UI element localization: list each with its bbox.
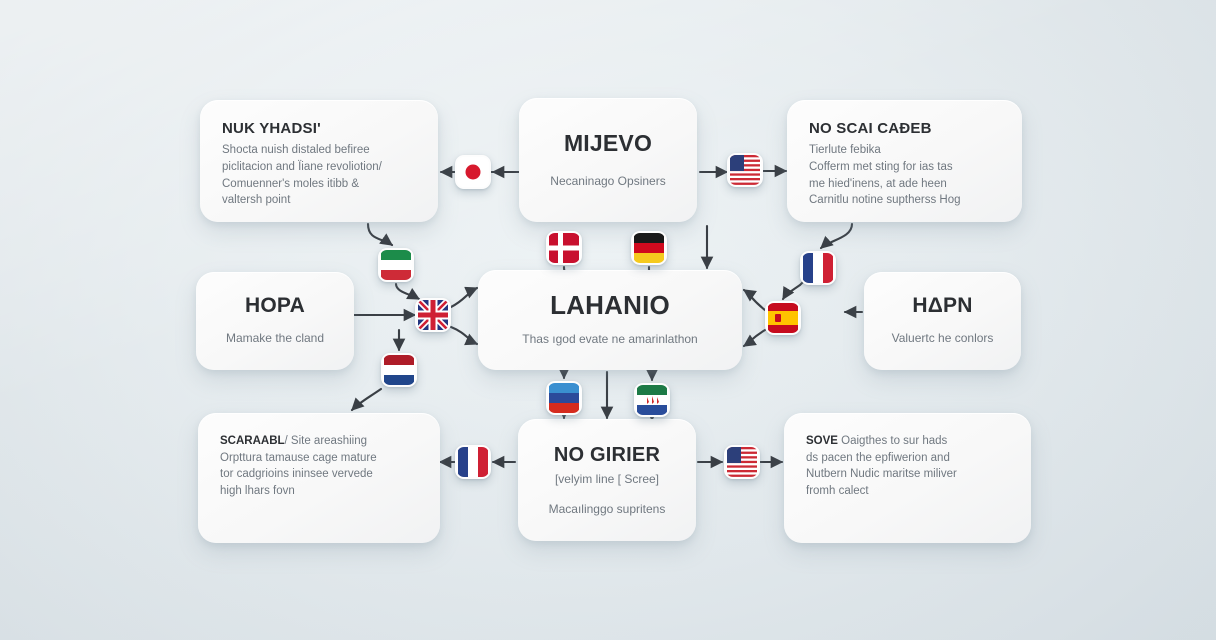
card-nuk-line-3: Comuenner's moles itibb & — [222, 176, 416, 193]
card-noscai-line-4: Carnitlu notine suptherss Hog — [809, 192, 1000, 209]
card-lahanio-subtitle: Thas ıgod evate ne amarinlathon — [522, 331, 697, 348]
card-lahanio[interactable]: LAHANIO Thas ıgod evate ne amarinlathon — [478, 270, 742, 370]
card-noscai-line-1: Tierlute febika — [809, 142, 1000, 159]
card-scaraabl-line-3: tor cadgrioins ininsee vervede — [220, 466, 418, 483]
card-sove-line-4: fromh calect — [806, 483, 1009, 500]
edge-uk-to-lahanio-upper — [451, 288, 477, 307]
japan-flag-icon[interactable] — [455, 155, 491, 189]
card-no-scai-cadeb[interactable]: NO SCAI CAÐEB Tierlute febika Cofferm me… — [787, 100, 1022, 222]
card-nuk-title: NUK YHADSI' — [222, 120, 416, 137]
card-sove-lead: SOVE — [806, 435, 838, 447]
card-sove-line-3: Nutbern Nudic maritse miliver — [806, 466, 1009, 483]
card-scaraabl-line-4: high lhars fovn — [220, 483, 418, 500]
card-lahanio-title: LAHANIO — [550, 291, 670, 321]
edge-france-to-spain — [783, 285, 800, 299]
card-hopa-title: HOPA — [245, 294, 305, 318]
card-scaraabl[interactable]: SCARAABL/ Site areashiing Orpttura tamau… — [198, 413, 440, 543]
card-nuk-line-1: Shocta nuish distaled befiree — [222, 142, 416, 159]
card-scaraabl-line-1: SCARAABL/ Site areashiing — [220, 433, 418, 450]
france-flag-icon[interactable] — [455, 445, 491, 479]
card-scaraabl-lead-rest: / Site areashiing — [285, 435, 367, 447]
edge-netherlands-to-scaraabl — [352, 389, 381, 410]
spain-flag-icon[interactable] — [765, 301, 801, 335]
diagram-canvas: japan flag --> — [0, 0, 1216, 640]
card-nogirier-subtitle: [velуim line [ Scree] — [555, 471, 659, 488]
card-sove-line-1: SOVE Oaigthes to sur hads — [806, 433, 1009, 450]
italy-flag-icon[interactable] — [378, 248, 414, 282]
edge-nuk-to-italy — [368, 224, 392, 245]
card-hapn-title: HΔPN — [912, 294, 972, 318]
card-sove-body: SOVE Oaigthes to sur hads ds pacen the e… — [806, 433, 1009, 500]
card-nuk-yhadsi[interactable]: NUK YHADSI' Shocta nuish distaled befire… — [200, 100, 438, 222]
card-no-girier[interactable]: NO GIRIER [velуim line [ Scree] Macaılin… — [518, 419, 696, 541]
card-noscai-body: Tierlute febika Cofferm met sting for ia… — [809, 142, 1000, 209]
germany-flag-icon[interactable] — [631, 231, 667, 265]
card-mijevo-title: MIJEVO — [564, 130, 652, 156]
france-flag-icon[interactable] — [800, 251, 836, 285]
united-kingdom-flag-icon[interactable] — [415, 298, 451, 332]
denmark-flag-icon[interactable] — [546, 231, 582, 265]
card-scaraabl-lead: SCARAABL — [220, 435, 285, 447]
netherlands-flag-icon[interactable] — [381, 353, 417, 387]
sierra-leone-flag-icon[interactable] — [634, 383, 670, 417]
card-noscai-title: NO SCAI CAÐEB — [809, 120, 1000, 137]
card-sove-line-2: ds pacen the epfiwerion and — [806, 450, 1009, 467]
edge-spain-to-lahanio-upper — [744, 290, 765, 310]
card-mijevo[interactable]: MIJEVO Necaninago Opsiners — [519, 98, 697, 222]
card-nogirier-title: NO GIRIER — [554, 444, 660, 467]
united-states-flag-icon[interactable] — [724, 445, 760, 479]
card-nuk-line-4: valtersh point — [222, 192, 416, 209]
card-noscai-line-3: me hied'inens, at ade heen — [809, 176, 1000, 193]
card-sove-lead-rest: Oaigthes to sur hads — [838, 435, 947, 447]
russia-flag-icon[interactable] — [546, 381, 582, 415]
card-hopa-subtitle: Mamake the cland — [226, 330, 324, 347]
edge-noscai-to-france — [821, 224, 852, 248]
edge-italy-to-uk — [396, 284, 419, 299]
card-sove[interactable]: SOVE Oaigthes to sur hads ds pacen the e… — [784, 413, 1031, 543]
card-hapn[interactable]: HΔPN Valuertc he conlors — [864, 272, 1021, 370]
card-scaraabl-line-2: Orpttura tamause cage mature — [220, 450, 418, 467]
card-nuk-body: Shocta nuish distaled befiree piclitacio… — [222, 142, 416, 209]
card-scaraabl-body: SCARAABL/ Site areashiing Orpttura tamau… — [220, 433, 418, 500]
card-mijevo-subtitle: Necaninago Opsiners — [550, 173, 665, 190]
card-noscai-line-2: Cofferm met sting for ias tas — [809, 159, 1000, 176]
edge-uk-to-lahanio-lower — [451, 327, 477, 344]
card-nogirier-subtitle-2: Macaılinggo supritens — [549, 502, 666, 516]
united-states-flag-icon[interactable] — [727, 153, 763, 187]
card-hapn-subtitle: Valuertc he conlors — [892, 330, 994, 347]
card-hopa[interactable]: HOPA Mamake the cland — [196, 272, 354, 370]
edge-spain-to-lahanio-lower — [744, 330, 765, 346]
card-nuk-line-2: piclitacion and Ïiane revoliotion/ — [222, 159, 416, 176]
